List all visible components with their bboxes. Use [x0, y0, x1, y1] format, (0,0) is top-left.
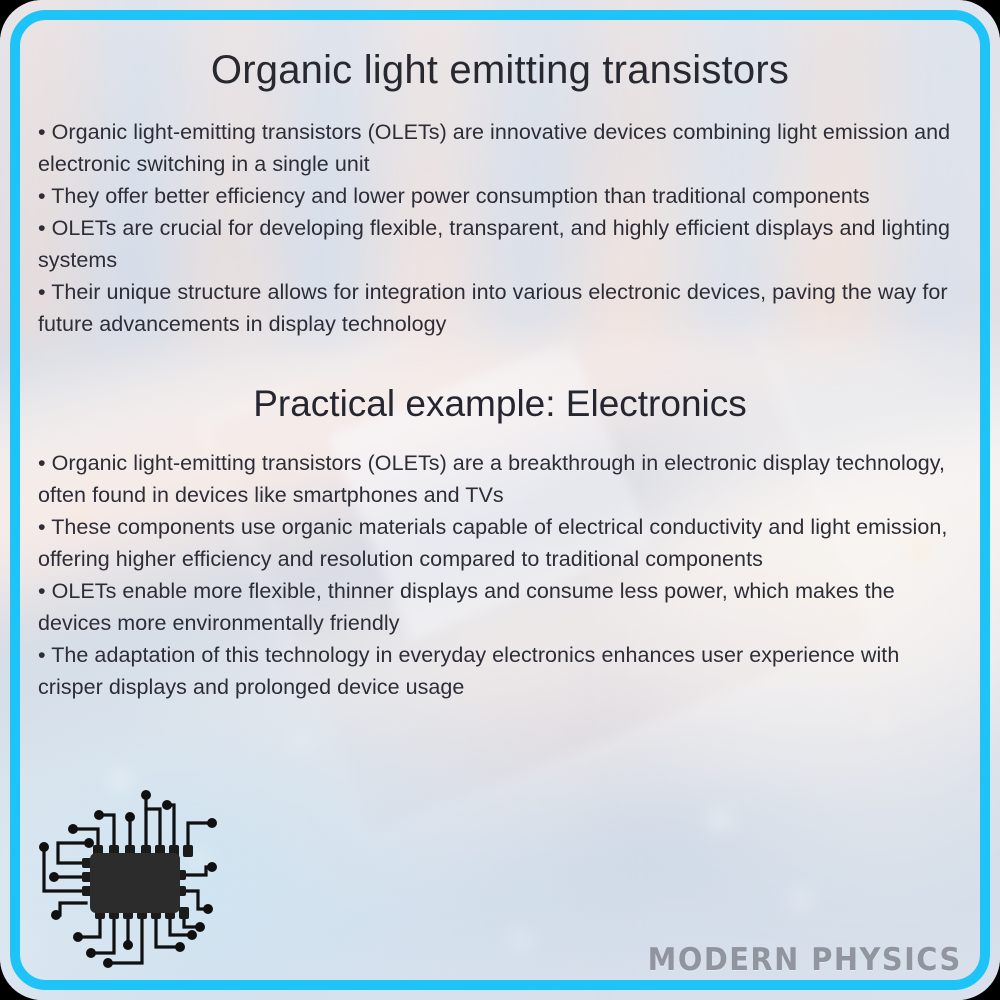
- list-item: • Their unique structure allows for inte…: [38, 276, 962, 340]
- page-title: Organic light emitting transistors: [38, 0, 962, 94]
- list-item: • These components use organic materials…: [38, 511, 962, 575]
- slide-content: Organic light emitting transistors • Org…: [0, 0, 1000, 703]
- intro-bullet-list: • Organic light-emitting transistors (OL…: [38, 116, 962, 340]
- slide-root: Organic light emitting transistors • Org…: [0, 0, 1000, 1000]
- list-item: • The adaptation of this technology in e…: [38, 639, 962, 703]
- example-bullet-list: • Organic light-emitting transistors (OL…: [38, 447, 962, 703]
- list-item: • OLETs are crucial for developing flexi…: [38, 212, 962, 276]
- list-item: • Organic light-emitting transistors (OL…: [38, 116, 962, 180]
- list-item: • They offer better efficiency and lower…: [38, 180, 962, 212]
- chip-body: [90, 853, 180, 913]
- microchip-icon: [36, 787, 226, 972]
- section-heading-practical-example: Practical example: Electronics: [38, 340, 962, 426]
- watermark-modern-physics: MODERN PHYSICS: [648, 942, 962, 978]
- list-item: • OLETs enable more flexible, thinner di…: [38, 575, 962, 639]
- list-item: • Organic light-emitting transistors (OL…: [38, 447, 962, 511]
